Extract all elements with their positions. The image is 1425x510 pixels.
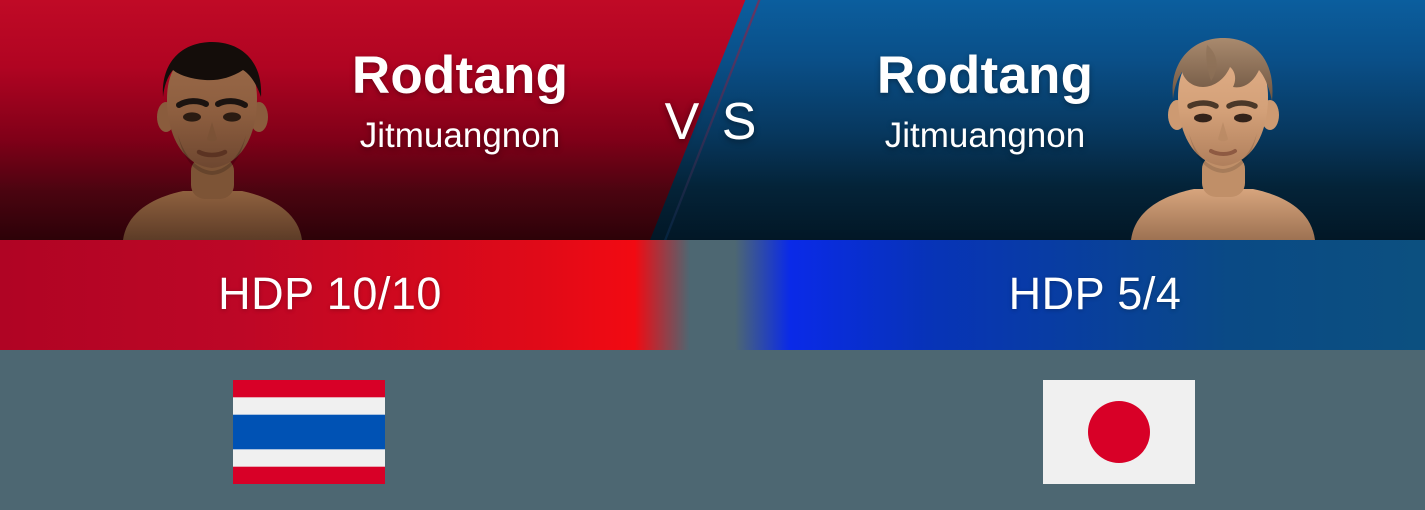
fight-matchup-card: Rodtang Jitmuangnon Rodtang Jitmuangnon … (0, 0, 1425, 510)
right-handicap-label: HDP 5/4 (1009, 268, 1182, 320)
right-handicap-banner[interactable]: HDP 5/4 (735, 240, 1425, 350)
japan-flag-icon (1043, 380, 1195, 484)
versus-label: V S (0, 92, 1425, 152)
thailand-flag-icon (233, 380, 385, 484)
left-handicap-label: HDP 10/10 (218, 268, 442, 320)
handicap-row: HDP 10/10 HDP 5/4 (0, 240, 1425, 350)
matchup-hero: Rodtang Jitmuangnon Rodtang Jitmuangnon … (0, 0, 1425, 240)
left-handicap-banner[interactable]: HDP 10/10 (0, 240, 690, 350)
